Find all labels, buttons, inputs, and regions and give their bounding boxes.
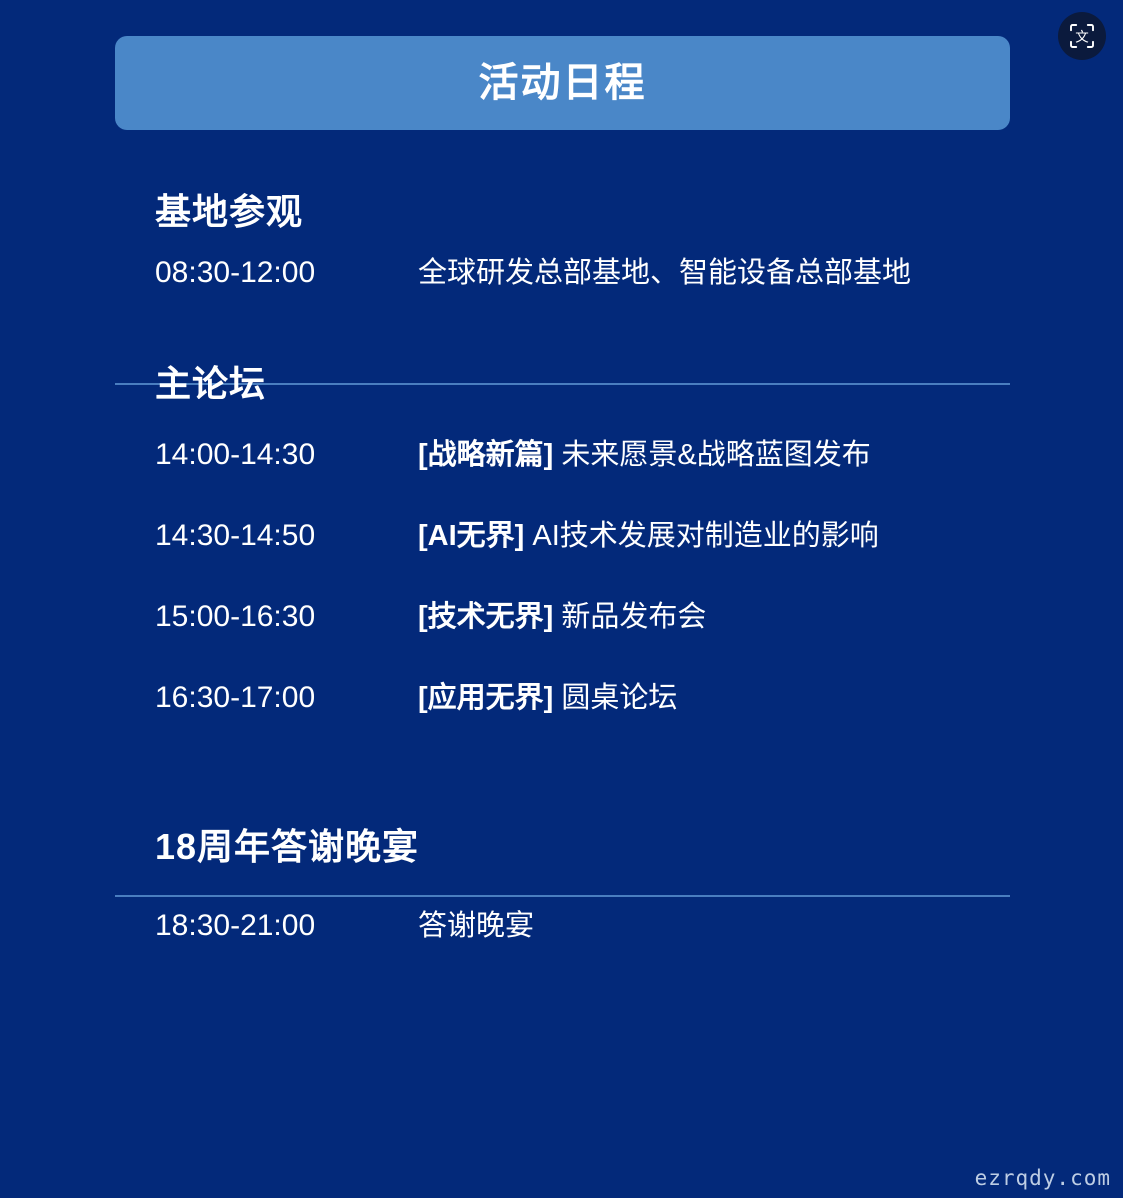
row-tag: [战略新篇] xyxy=(418,439,553,471)
row-detail: 圆桌论坛 xyxy=(561,682,677,714)
row-description: [战略新篇] 未来愿景&战略蓝图发布 xyxy=(418,440,871,472)
site-watermark: ezrqdy.com xyxy=(975,1166,1111,1190)
row-time: 18:30-21:00 xyxy=(155,909,418,942)
schedule-row: 14:30-14:50 [AI无界] AI技术发展对制造业的影响 xyxy=(0,519,1123,600)
page-header-banner: 活动日程 xyxy=(115,36,1010,130)
schedule-content: 基地参观 08:30-12:00 全球研发总部基地、智能设备总部基地 主论坛 1… xyxy=(0,130,1123,959)
schedule-page: 文 活动日程 基地参观 08:30-12:00 全球研发总部基地、智能设备总部基… xyxy=(0,0,1123,1198)
row-description: [AI无界] AI技术发展对制造业的影响 xyxy=(418,521,879,553)
schedule-row: 18:30-21:00 答谢晚宴 xyxy=(0,909,1123,959)
row-detail: 全球研发总部基地、智能设备总部基地 xyxy=(418,257,911,289)
row-tag: [应用无界] xyxy=(418,682,553,714)
row-description: [技术无界] 新品发布会 xyxy=(418,602,706,634)
svg-text:文: 文 xyxy=(1075,29,1089,45)
row-time: 08:30-12:00 xyxy=(155,256,418,289)
schedule-row: 15:00-16:30 [技术无界] 新品发布会 xyxy=(0,600,1123,681)
translate-scan-icon[interactable]: 文 xyxy=(1058,12,1106,60)
row-detail: 未来愿景&战略蓝图发布 xyxy=(561,439,870,471)
row-detail: 新品发布会 xyxy=(561,601,706,633)
row-time: 14:30-14:50 xyxy=(155,519,418,552)
page-title: 活动日程 xyxy=(479,63,647,103)
section-title: 基地参观 xyxy=(0,130,1123,232)
row-detail: AI技术发展对制造业的影响 xyxy=(532,520,878,552)
schedule-rows: 08:30-12:00 全球研发总部基地、智能设备总部基地 xyxy=(0,256,1123,306)
row-time: 15:00-16:30 xyxy=(155,600,418,633)
row-tag: [技术无界] xyxy=(418,601,553,633)
row-time: 16:30-17:00 xyxy=(155,681,418,714)
section-title: 主论坛 xyxy=(0,306,1123,404)
row-tag: [AI无界] xyxy=(418,520,524,552)
section-title: 18周年答谢晚宴 xyxy=(0,762,1123,867)
row-detail: 答谢晚宴 xyxy=(418,910,534,942)
schedule-row: 16:30-17:00 [应用无界] 圆桌论坛 xyxy=(0,681,1123,762)
row-description: 答谢晚宴 xyxy=(418,911,534,943)
row-time: 14:00-14:30 xyxy=(155,438,418,471)
row-description: 全球研发总部基地、智能设备总部基地 xyxy=(418,258,911,290)
schedule-section-dinner: 18周年答谢晚宴 18:30-21:00 答谢晚宴 xyxy=(0,762,1123,959)
schedule-rows: 18:30-21:00 答谢晚宴 xyxy=(0,909,1123,959)
schedule-rows: 14:00-14:30 [战略新篇] 未来愿景&战略蓝图发布 14:30-14:… xyxy=(0,438,1123,762)
row-description: [应用无界] 圆桌论坛 xyxy=(418,683,677,715)
schedule-section-visit: 基地参观 08:30-12:00 全球研发总部基地、智能设备总部基地 xyxy=(0,130,1123,306)
schedule-section-forum: 主论坛 14:00-14:30 [战略新篇] 未来愿景&战略蓝图发布 14:30… xyxy=(0,306,1123,763)
schedule-row: 14:00-14:30 [战略新篇] 未来愿景&战略蓝图发布 xyxy=(0,438,1123,519)
schedule-row: 08:30-12:00 全球研发总部基地、智能设备总部基地 xyxy=(0,256,1123,306)
